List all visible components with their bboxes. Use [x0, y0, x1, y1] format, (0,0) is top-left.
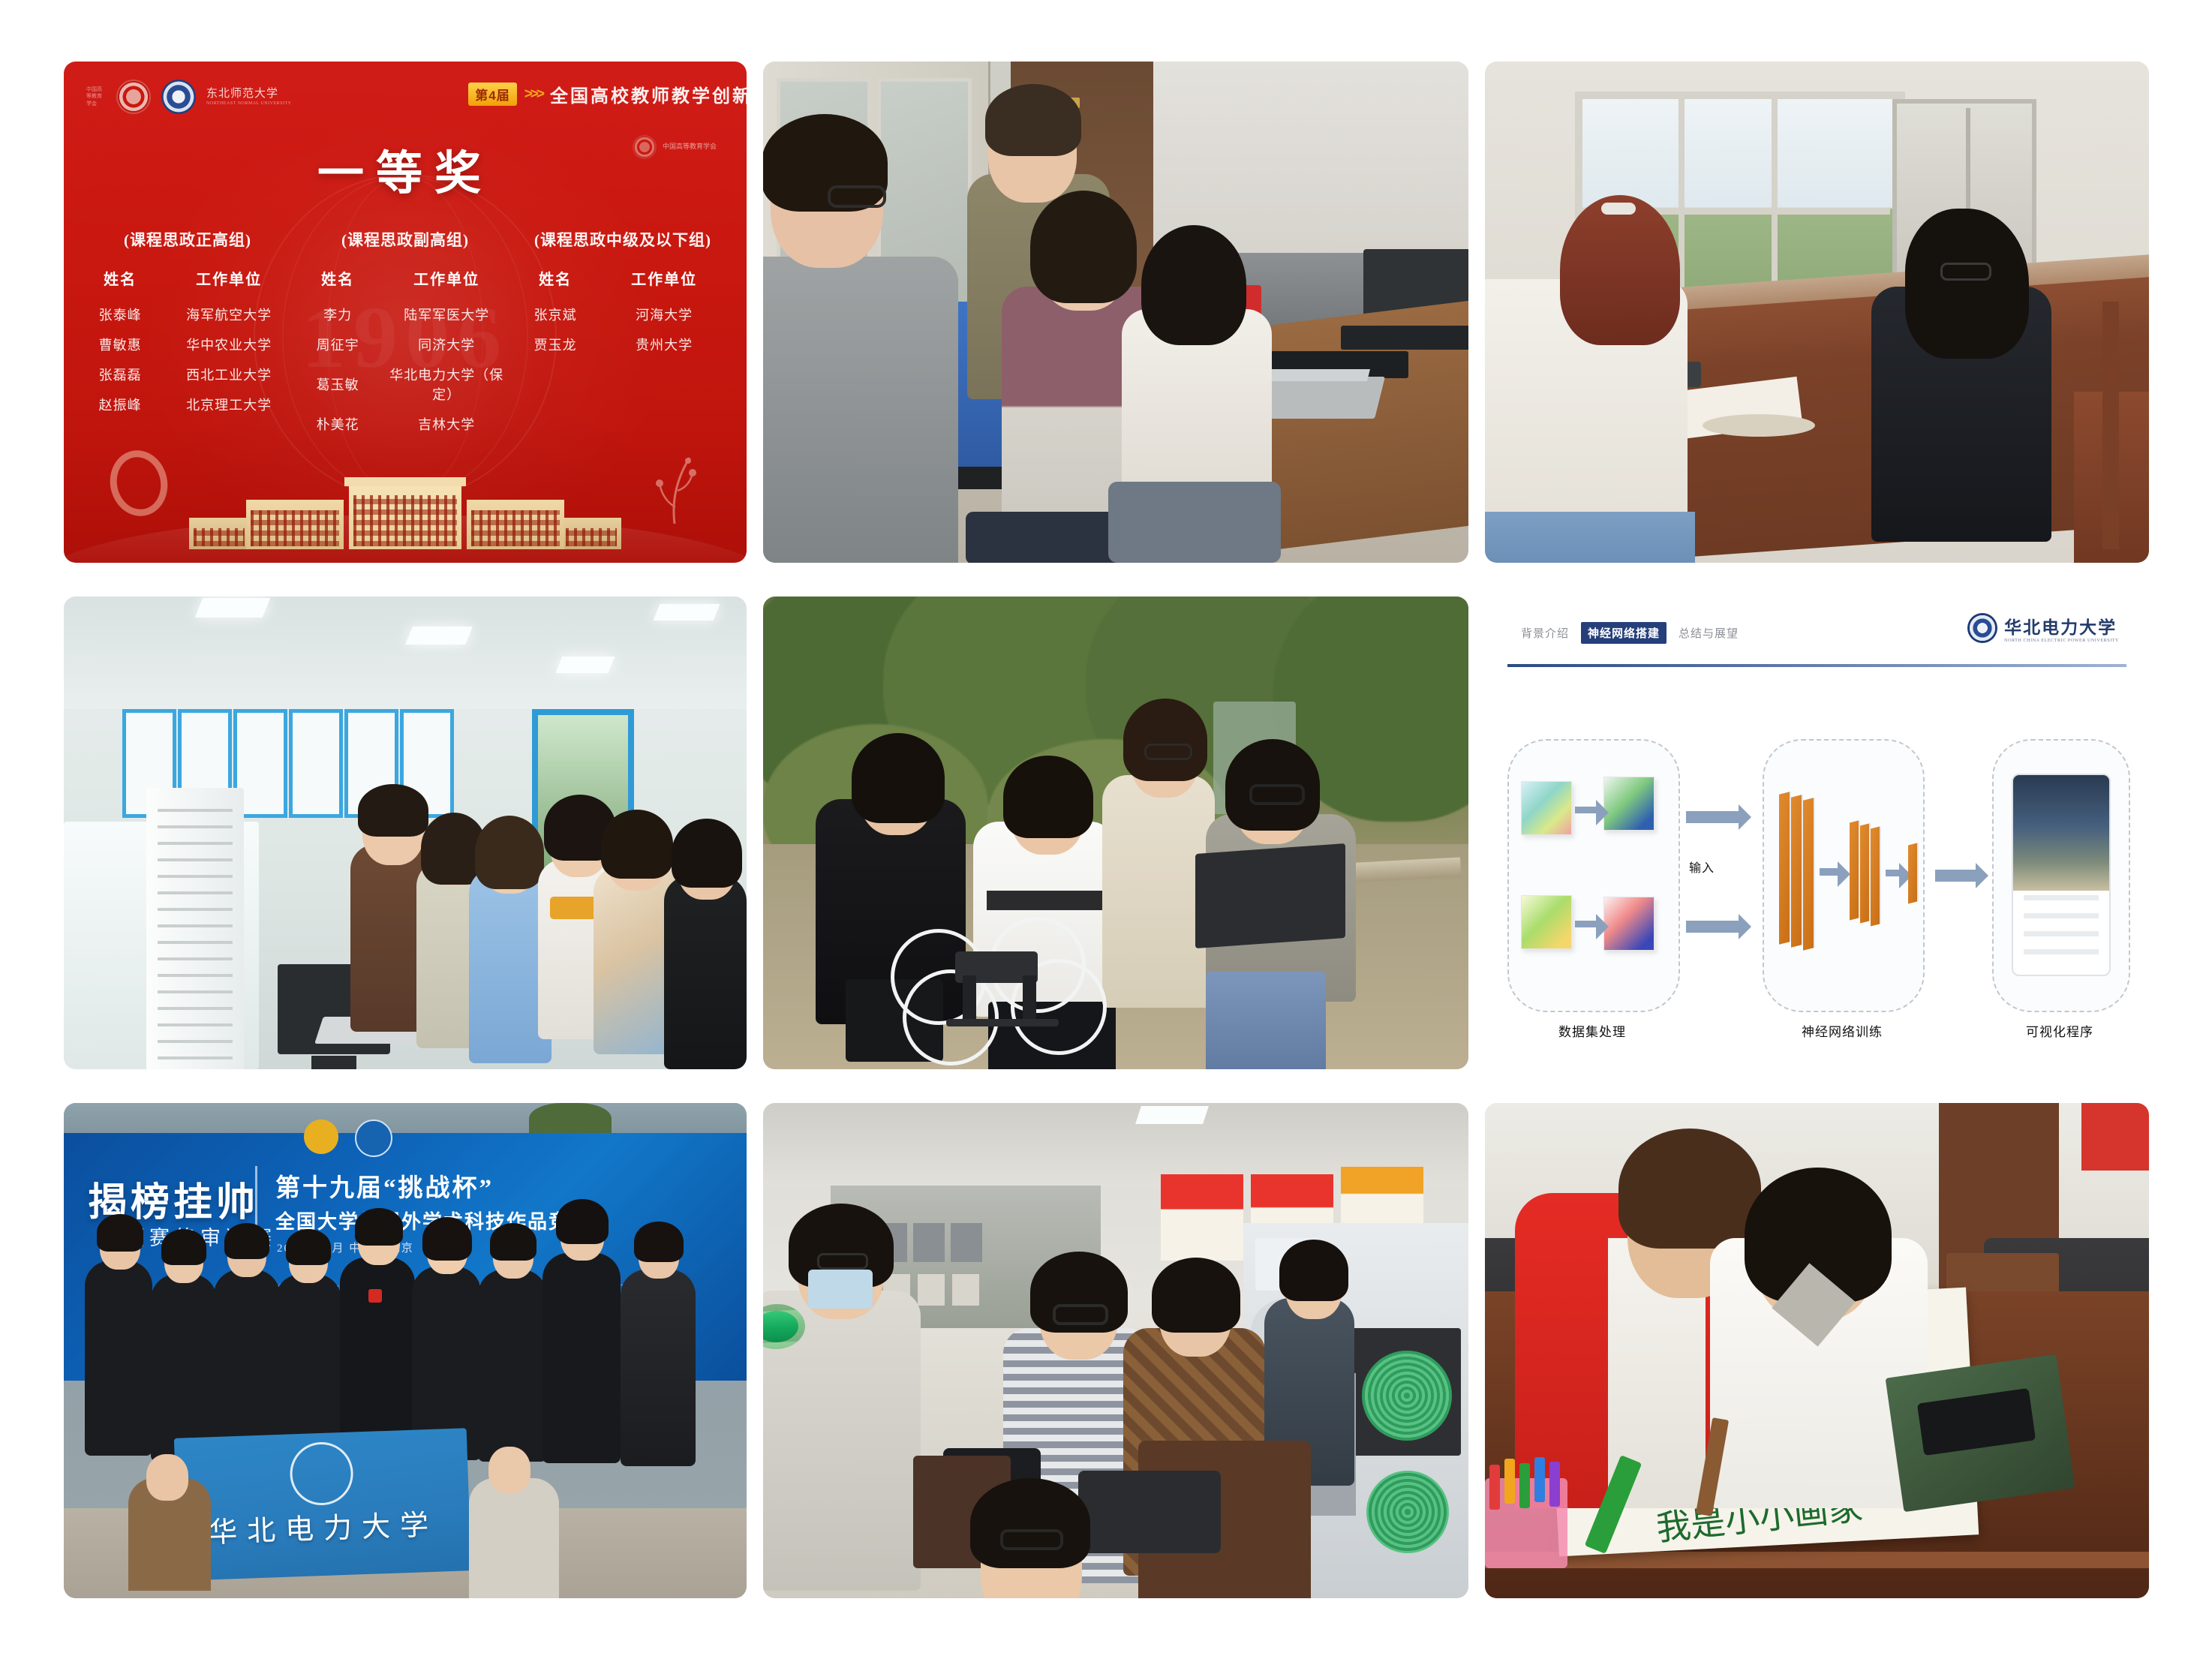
cell-office-interview[interactable]: [1485, 62, 2149, 563]
group-3-name: (课程思政中级及以下组): [514, 228, 732, 251]
table-row: 张京斌 河海大学: [514, 299, 732, 329]
ncepu-name-cn: 华北电力大学: [2004, 618, 2117, 637]
dataset-thumb-3: [1521, 895, 1572, 949]
table-row: 张磊磊 西北工业大学: [79, 359, 296, 389]
photo-collage-grid: 1906 中国高等教育学会 东北师范大学 NORTHEAST NORMAL UN…: [64, 62, 2150, 1598]
conv-layer-5: [1860, 824, 1869, 924]
visual-app-phone: [2012, 774, 2111, 976]
group-1-name: (课程思政正高组): [79, 228, 296, 251]
award-group-3: (课程思政中级及以下组) 姓名 工作单位 张京斌 河海大学 贾玉龙 贵州大学: [514, 228, 732, 439]
banner-line1: 第十九届“挑战杯”: [275, 1168, 494, 1204]
arrow-input-bottom: [1686, 921, 1739, 933]
cell-name: 贾玉龙: [514, 329, 597, 359]
group-3-table: 姓名 工作单位 张京斌 河海大学 贾玉龙 贵州大学: [514, 267, 732, 359]
cell-drone-field-test[interactable]: [763, 597, 1468, 1069]
cell-name: 葛玉敏: [296, 359, 379, 409]
cell-award-certificate[interactable]: 1906 中国高等教育学会 东北师范大学 NORTHEAST NORMAL UN…: [64, 62, 747, 563]
cahe-left-label: 中国高等教育学会: [86, 86, 106, 107]
cell-name: 朴美花: [296, 409, 379, 439]
group-1-table: 姓名 工作单位 张泰峰 海军航空大学 曹敏惠 华中农业大学 张磊磊 西北工业大学: [79, 267, 296, 419]
arrow-dataset-2: [1575, 921, 1596, 927]
cell-robot-lab-demo[interactable]: [763, 1103, 1468, 1598]
conv-layer-6: [1871, 827, 1880, 927]
cell-students-computers[interactable]: [763, 62, 1468, 563]
conv-layer-2: [1791, 795, 1802, 947]
col-unit: 工作单位: [161, 267, 296, 299]
cell-name: 张京斌: [514, 299, 597, 329]
fc-layer: [1908, 843, 1917, 904]
table-row: 曹敏惠 华中农业大学: [79, 329, 296, 359]
cell-name: 赵振峰: [79, 389, 161, 419]
conv-layer-3: [1803, 798, 1814, 950]
col-name: 姓名: [514, 267, 597, 299]
conv-layer-4: [1850, 821, 1859, 921]
university-name-cn: 东北师范大学: [206, 88, 278, 100]
cell-unit: 同济大学: [379, 329, 514, 359]
photo-office-interview: [1485, 62, 2149, 563]
ncepu-logo: 华北电力大学 NORTH CHINA ELECTRIC POWER UNIVER…: [1967, 613, 2119, 643]
cell-volunteer-drawing[interactable]: 我是小小画家: [1485, 1103, 2149, 1598]
cell-unit: 贵州大学: [597, 329, 732, 359]
award-group-2: (课程思政副高组) 姓名 工作单位 李力 陆军军医大学 周征宇 同济大学: [296, 228, 514, 439]
cahe-seal-icon: [116, 80, 151, 114]
photo-drone-field-test: [763, 597, 1468, 1069]
arrow-net-2: [1886, 870, 1899, 876]
cell-lab-tour[interactable]: [64, 597, 747, 1069]
arrow-dataset-1: [1575, 807, 1596, 813]
cell-name: 张磊磊: [79, 359, 161, 389]
university-name-en: NORTHEAST NORMAL UNIVERSITY: [206, 101, 291, 107]
edition-badge: 第4届: [468, 83, 516, 106]
photo-challenge-cup-team: 揭榜挂帅 专项赛终审决赛 第十九届“挑战杯” 全国大学生课外学术科技作品竞赛 2…: [64, 1103, 747, 1598]
table-header-row: 姓名 工作单位: [296, 267, 514, 299]
chevron-right-icon: >>>: [524, 86, 542, 103]
table-row: 朴美花 吉林大学: [296, 409, 514, 439]
photo-lab-tour: [64, 597, 747, 1069]
conv-layer-1: [1779, 792, 1790, 944]
university-flag: 华北电力大学: [174, 1428, 471, 1580]
nav-item-background[interactable]: 背景介绍: [1521, 625, 1569, 641]
slide-nav[interactable]: 背景介绍 神经网络搭建 总结与展望: [1521, 622, 1739, 644]
col-unit: 工作单位: [597, 267, 732, 299]
flag-text: 华北电力大学: [176, 1500, 470, 1552]
group-2-name: (课程思政副高组): [296, 228, 514, 251]
event-title: 全国高校教师教学创新: [550, 81, 747, 107]
ncepu-name-en: NORTH CHINA ELECTRIC POWER UNIVERSITY: [2004, 639, 2119, 643]
caption-visual: 可视化程序: [1992, 1021, 2127, 1040]
photo-robot-lab-demo: [763, 1103, 1468, 1598]
award-logo-row: 中国高等教育学会 东北师范大学 NORTHEAST NORMAL UNIVERS…: [86, 80, 291, 114]
table-header-row: 姓名 工作单位: [79, 267, 296, 299]
cell-name: 周征宇: [296, 329, 379, 359]
cell-unit: 华中农业大学: [161, 329, 296, 359]
cell-unit: 华北电力大学（保定）: [379, 359, 514, 409]
cell-unit: 陆军军医大学: [379, 299, 514, 329]
nenu-seal-icon: [161, 80, 196, 114]
cell-unit: 西北工业大学: [161, 359, 296, 389]
table-row: 贾玉龙 贵州大学: [514, 329, 732, 359]
cell-name: 曹敏惠: [79, 329, 161, 359]
col-name: 姓名: [79, 267, 161, 299]
ncepu-name: 华北电力大学 NORTH CHINA ELECTRIC POWER UNIVER…: [2004, 613, 2119, 643]
cell-name: 张泰峰: [79, 299, 161, 329]
table-row: 葛玉敏 华北电力大学（保定）: [296, 359, 514, 409]
arrow-input-top: [1686, 811, 1739, 823]
ncepu-seal-icon: [1967, 613, 1997, 643]
nav-item-network-build[interactable]: 神经网络搭建: [1581, 622, 1667, 644]
cell-unit: 海军航空大学: [161, 299, 296, 329]
dataset-thumb-2: [1603, 777, 1654, 831]
col-unit: 工作单位: [379, 267, 514, 299]
cell-challenge-cup-team[interactable]: 揭榜挂帅 专项赛终审决赛 第十九届“挑战杯” 全国大学生课外学术科技作品竞赛 2…: [64, 1103, 747, 1598]
col-name: 姓名: [296, 267, 379, 299]
table-row: 李力 陆军军医大学: [296, 299, 514, 329]
table-header-row: 姓名 工作单位: [514, 267, 732, 299]
drone-illustration: [891, 923, 1138, 1028]
photo-students-computers: [763, 62, 1468, 563]
dataset-thumb-4: [1603, 897, 1654, 951]
university-name: 东北师范大学 NORTHEAST NORMAL UNIVERSITY: [206, 87, 291, 107]
cell-unit: 北京理工大学: [161, 389, 296, 419]
award-group-1: (课程思政正高组) 姓名 工作单位 张泰峰 海军航空大学 曹敏惠 华中农业大学: [79, 228, 296, 439]
table-row: 周征宇 同济大学: [296, 329, 514, 359]
cell-unit: 河海大学: [597, 299, 732, 329]
group-2-table: 姓名 工作单位 李力 陆军军医大学 周征宇 同济大学 葛玉敏 华北电力大学（保定…: [296, 267, 514, 439]
award-title: 一等奖: [64, 135, 747, 203]
cell-name: 李力: [296, 299, 379, 329]
table-row: 赵振峰 北京理工大学: [79, 389, 296, 419]
ncepu-flag-seal-icon: [289, 1441, 354, 1507]
award-event-strip: 第4届 >>> 全国高校教师教学创新: [468, 81, 747, 107]
caption-network: 神经网络训练: [1763, 1021, 1922, 1040]
header-divider: [1507, 664, 2126, 667]
photo-volunteer-drawing: 我是小小画家: [1485, 1103, 2149, 1598]
label-input: 输入: [1689, 858, 1715, 876]
table-row: 张泰峰 海军航空大学: [79, 299, 296, 329]
branch-decoration-icon: [645, 455, 697, 524]
nav-item-summary[interactable]: 总结与展望: [1679, 625, 1739, 641]
caption-dataset: 数据集处理: [1507, 1021, 1677, 1040]
arrow-net-1: [1820, 868, 1838, 876]
cell-neural-network-slide[interactable]: 背景介绍 神经网络搭建 总结与展望 华北电力大学 NORTH CHINA ELE…: [1485, 597, 2149, 1069]
cell-unit: 吉林大学: [379, 409, 514, 439]
arrow-to-visual: [1935, 870, 1976, 882]
award-groups: (课程思政正高组) 姓名 工作单位 张泰峰 海军航空大学 曹敏惠 华中农业大学: [79, 228, 732, 439]
dataset-thumb-1: [1521, 781, 1572, 835]
